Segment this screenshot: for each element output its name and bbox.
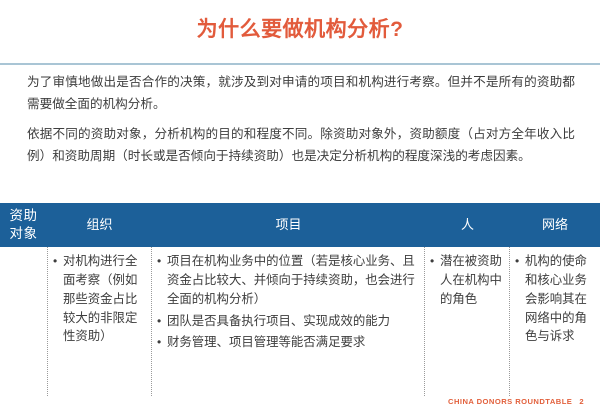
list-item-text: 对机构进行全面考察（例如那些资金占比较大的非限定性资助） bbox=[63, 254, 137, 343]
table-cell-project: •项目在机构业务中的位置（若是核心业务、且资金占比较大、并倾向于持续资助，也会进… bbox=[152, 247, 425, 396]
table-cell-network: •机构的使命和核心业务会影响其在网络中的角色与诉求 bbox=[510, 247, 600, 396]
table-body-row: •对机构进行全面考察（例如那些资金占比较大的非限定性资助） •项目在机构业务中的… bbox=[0, 247, 600, 396]
slide-footer: CHINA DONORS ROUNDTABLE 2 bbox=[448, 397, 584, 406]
bullet-dot-icon: • bbox=[430, 252, 434, 270]
table-header-people: 人 bbox=[425, 203, 510, 247]
table-cell-funding-target bbox=[0, 247, 47, 396]
list-item-text: 财务管理、项目管理等能否满足要求 bbox=[167, 335, 365, 349]
table-header-project: 项目 bbox=[152, 203, 425, 247]
list-item: •财务管理、项目管理等能否满足要求 bbox=[157, 333, 420, 352]
slide: 为什么要做机构分析? 为了审慎地做出是否合作的决策，就涉及到对申请的项目和机构进… bbox=[0, 0, 600, 414]
analysis-matrix-table: 资助 对象 组织 项目 人 网络 •对机构进行全面考察（例如那些资金占比较大的非… bbox=[0, 203, 600, 396]
table-cell-organization: •对机构进行全面考察（例如那些资金占比较大的非限定性资助） bbox=[47, 247, 152, 396]
list-item-text: 项目在机构业务中的位置（若是核心业务、且资金占比较大、并倾向于持续资助，也会进行… bbox=[167, 254, 415, 306]
bullet-dot-icon: • bbox=[157, 252, 161, 270]
intro-paragraph-1: 为了审慎地做出是否合作的决策，就涉及到对申请的项目和机构进行考察。但并不是所有的… bbox=[27, 72, 575, 115]
table-header-network: 网络 bbox=[510, 203, 600, 247]
list-item-text: 机构的使命和核心业务会影响其在网络中的角色与诉求 bbox=[525, 254, 587, 343]
bullet-dot-icon: • bbox=[53, 252, 57, 270]
footer-page-number: 2 bbox=[579, 397, 584, 406]
intro-paragraph-2: 依据不同的资助对象，分析机构的目的和程度不同。除资助对象外，资助额度（占对方全年… bbox=[27, 124, 575, 167]
bullet-list-organization: •对机构进行全面考察（例如那些资金占比较大的非限定性资助） bbox=[53, 252, 147, 346]
table-header-funding-target: 资助 对象 bbox=[0, 203, 47, 247]
table-cell-people: •潜在被资助人在机构中的角色 bbox=[425, 247, 510, 396]
bullet-list-network: •机构的使命和核心业务会影响其在网络中的角色与诉求 bbox=[515, 252, 596, 346]
list-item: •团队是否具备执行项目、实现成效的能力 bbox=[157, 312, 420, 331]
list-item-text: 潜在被资助人在机构中的角色 bbox=[440, 254, 502, 306]
bullet-list-people: •潜在被资助人在机构中的角色 bbox=[430, 252, 505, 309]
bullet-list-project: •项目在机构业务中的位置（若是核心业务、且资金占比较大、并倾向于持续资助，也会进… bbox=[157, 252, 420, 352]
footer-brand: CHINA DONORS ROUNDTABLE bbox=[448, 397, 572, 406]
list-item: •项目在机构业务中的位置（若是核心业务、且资金占比较大、并倾向于持续资助，也会进… bbox=[157, 252, 420, 309]
table-header-organization: 组织 bbox=[47, 203, 152, 247]
list-item: •潜在被资助人在机构中的角色 bbox=[430, 252, 505, 309]
list-item: •机构的使命和核心业务会影响其在网络中的角色与诉求 bbox=[515, 252, 596, 346]
bullet-dot-icon: • bbox=[157, 312, 161, 330]
list-item-text: 团队是否具备执行项目、实现成效的能力 bbox=[167, 314, 390, 328]
table-header-row: 资助 对象 组织 项目 人 网络 bbox=[0, 203, 600, 247]
bullet-dot-icon: • bbox=[515, 252, 519, 270]
title-divider bbox=[0, 63, 600, 65]
page-title: 为什么要做机构分析? bbox=[0, 18, 600, 41]
bullet-dot-icon: • bbox=[157, 333, 161, 351]
list-item: •对机构进行全面考察（例如那些资金占比较大的非限定性资助） bbox=[53, 252, 147, 346]
